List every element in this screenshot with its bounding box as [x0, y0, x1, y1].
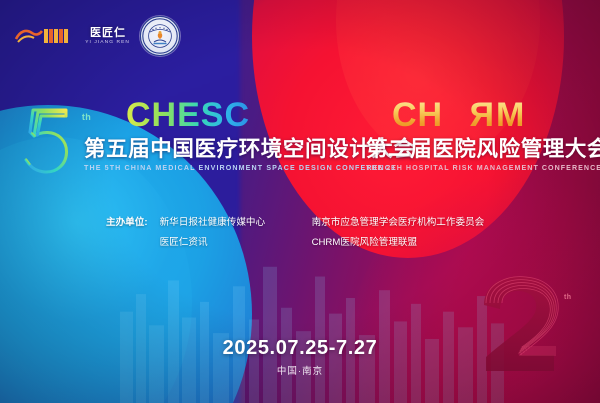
yijiangren-cn: 医匠仁 [90, 28, 126, 39]
organizer-item: 南京市应急管理学会医疗机构工作委员会 [312, 213, 485, 233]
event-location: 中国·南京 [0, 363, 600, 377]
decorative-number-2: th [446, 267, 596, 403]
organizer-item: 新华日报社健康传媒中心 [160, 213, 288, 233]
conference-poster: th 医匠仁 YI JIANG REN [0, 0, 600, 403]
left-conference-block: th CHESC 第五届中国医疗环境空间设计大会 THE 5TH CHINA M… [16, 98, 416, 180]
organizers-column-2: 南京市应急管理学会医疗机构工作委员会 CHRM医院风险管理联盟 [312, 213, 485, 253]
yijiangren-en: YI JIANG REN [86, 40, 131, 45]
ordinal-number-5: th [16, 102, 80, 180]
yijiangren-logo: 医匠仁 YI JIANG REN [90, 28, 126, 45]
organizer-item: CHRM医院风险管理联盟 [312, 233, 485, 253]
organizers-label: 主办单位: [106, 213, 148, 233]
organizers-section: 主办单位: 新华日报社健康传媒中心 医匠仁资讯 南京市应急管理学会医疗机构工作委… [106, 213, 484, 253]
chrm-text-m: M [496, 98, 524, 132]
chesc-acronym-logo: CHESC [126, 98, 326, 132]
right-cn-title: 第二届医院风险管理大会 [366, 138, 600, 161]
xinhua-daily-logo [14, 25, 76, 47]
association-emblem-icon [140, 16, 180, 56]
organizer-item: 医匠仁资讯 [160, 233, 288, 253]
logo-bar: 医匠仁 YI JIANG REN [14, 16, 180, 56]
organizers-column-1: 新华日报社健康传媒中心 医匠仁资讯 [160, 213, 288, 253]
chrm-text-ch: CH [392, 98, 443, 132]
chrm-acronym-logo: CH R M [392, 98, 572, 132]
right-en-title: THE 2TH HOSPITAL RISK MANAGEMENT CONFERE… [366, 164, 600, 172]
right-conference-block: CH R M 第二届医院风险管理大会 THE 2TH HOSPITAL RISK… [366, 98, 600, 172]
event-date: 2025.07.25-7.27 [0, 337, 600, 360]
svg-text:th: th [564, 294, 571, 301]
chrm-text-r-mirrored: R [469, 98, 494, 132]
ordinal-suffix-th: th [82, 112, 91, 122]
chesc-text: CHESC [126, 98, 250, 132]
